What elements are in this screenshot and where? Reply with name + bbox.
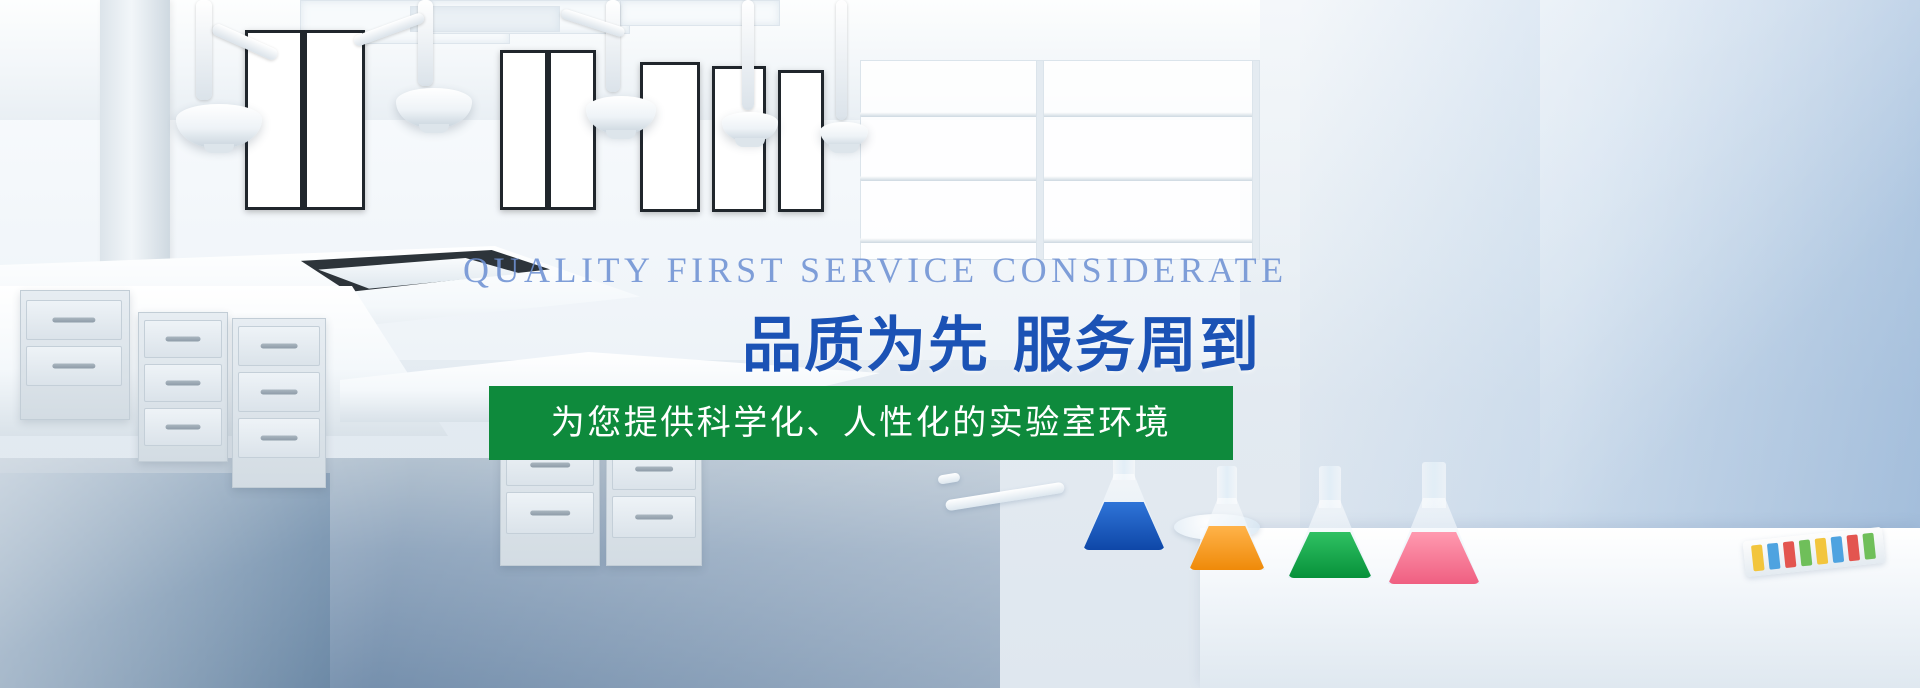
cabinet-drawer: [238, 326, 320, 366]
flask-blue: [1083, 440, 1165, 550]
cabinet-drawer: [144, 364, 222, 402]
cabinet-drawer: [26, 346, 122, 386]
ceiling-panel: [620, 0, 780, 26]
structural-column: [100, 0, 170, 300]
extraction-arm: [196, 0, 212, 100]
cabinet-drawer: [144, 320, 222, 358]
extraction-arm: [742, 0, 754, 110]
vial: [1799, 539, 1813, 566]
hero-banner: QUALITY FIRST SERVICE CONSIDERATE 品质为先 服…: [0, 0, 1920, 688]
vial: [1767, 543, 1781, 570]
window: [778, 70, 824, 212]
lab-photo-background: [0, 0, 1920, 688]
cabinet-drawer: [506, 444, 594, 486]
window-mullion: [300, 30, 307, 210]
vial: [1846, 534, 1860, 561]
vial: [1783, 541, 1797, 568]
shelf-post: [1036, 60, 1044, 260]
cabinet-drawer: [238, 418, 320, 458]
cabinet-drawer: [612, 448, 696, 490]
flask-pink: [1388, 462, 1480, 584]
shelf-rail: [860, 238, 1260, 243]
flask-orange: [1189, 466, 1265, 570]
window: [640, 62, 700, 212]
vial: [1831, 536, 1845, 563]
window-mullion: [545, 50, 551, 210]
cabinet-drawer: [506, 492, 594, 534]
wall-shelf-unit: [860, 60, 1260, 260]
shelf-rail: [860, 112, 1260, 117]
shelf-post: [1252, 60, 1260, 260]
flask-liquid: [1189, 526, 1265, 570]
vial: [1815, 538, 1829, 565]
extraction-arm: [606, 0, 620, 92]
cabinet-drawer: [238, 372, 320, 412]
flask-liquid: [1083, 502, 1165, 550]
vial: [1862, 533, 1876, 560]
cabinet-drawer: [26, 300, 122, 340]
cabinet-drawer: [144, 408, 222, 446]
shelf-rail: [860, 176, 1260, 181]
flask-liquid: [1288, 532, 1372, 578]
vial: [1751, 544, 1765, 571]
cabinet-drawer: [612, 496, 696, 538]
flask-liquid: [1388, 532, 1480, 584]
flask-green: [1288, 466, 1372, 578]
extraction-arm: [836, 0, 847, 120]
